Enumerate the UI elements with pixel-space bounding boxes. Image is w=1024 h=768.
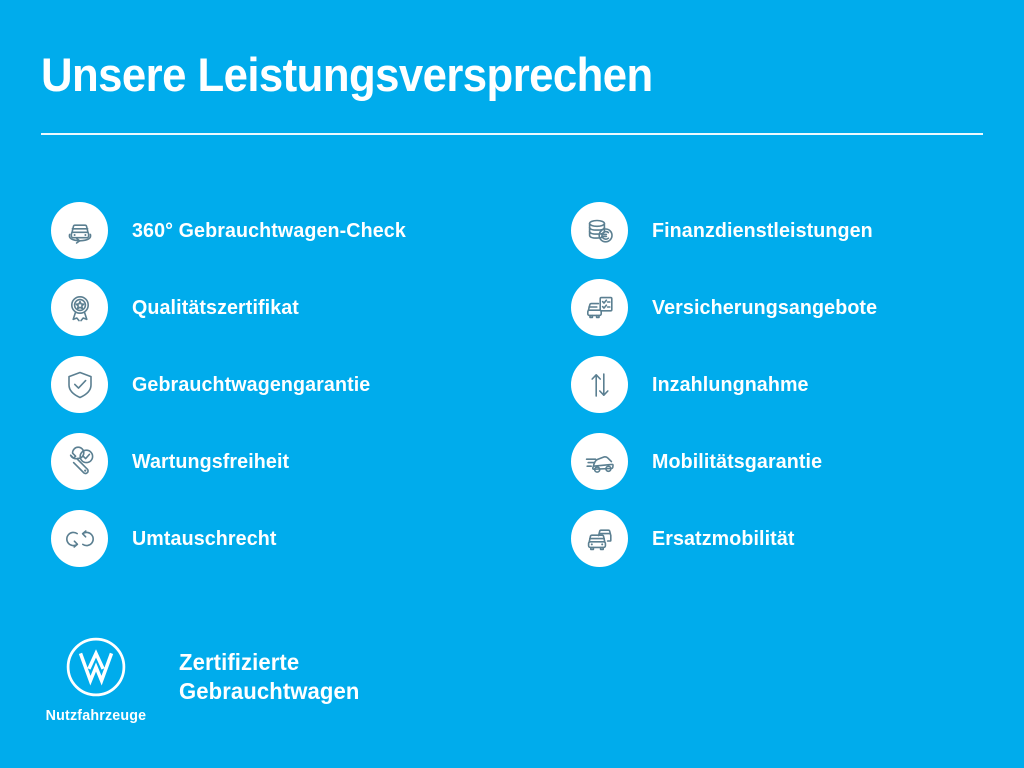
benefit-item-umtauschrecht[interactable]: Umtauschrecht (51, 510, 491, 567)
shield-check-icon (51, 356, 108, 413)
brand-headline: Zertifizierte Gebrauchtwagen (179, 648, 359, 707)
up-down-arrows-icon (571, 356, 628, 413)
benefit-label: Mobilitätsgarantie (652, 450, 822, 474)
slide-canvas: Unsere Leistungsversprechen 360° Gebrauc… (0, 0, 1024, 768)
logo-block: Nutzfahrzeuge (41, 636, 151, 724)
title-divider (41, 133, 983, 135)
two-cars-icon (571, 510, 628, 567)
coins-euro-icon (571, 202, 628, 259)
benefits-column-left: 360° Gebrauchtwagen-Check Qualitätszerti… (51, 202, 491, 587)
benefit-label: Versicherungsangebote (652, 296, 877, 320)
benefits-column-right: Finanzdienstleistungen Versicherungsange… (571, 202, 1011, 587)
brand-lockup: Nutzfahrzeuge Zertifizierte Gebrauchtwag… (41, 636, 367, 724)
benefit-label: Wartungsfreiheit (132, 450, 289, 474)
vw-roundel-logo (65, 636, 127, 698)
brand-headline-line2: Gebrauchtwagen (179, 677, 359, 706)
benefit-label: Umtauschrecht (132, 527, 277, 551)
benefit-label: Qualitätszertifikat (132, 296, 299, 320)
benefit-label: Inzahlungnahme (652, 373, 809, 397)
page-title: Unsere Leistungsversprechen (41, 50, 653, 99)
wrench-check-icon (51, 433, 108, 490)
benefit-item-gebrauchtwagengarantie[interactable]: Gebrauchtwagengarantie (51, 356, 491, 413)
benefit-item-qualitaetszertifikat[interactable]: Qualitätszertifikat (51, 279, 491, 336)
brand-headline-line1: Zertifizierte (179, 648, 359, 677)
benefit-item-mobilitaetsgarantie[interactable]: Mobilitätsgarantie (571, 433, 1011, 490)
car-360-check-icon (51, 202, 108, 259)
exchange-arrows-icon (51, 510, 108, 567)
benefit-item-versicherungsangebote[interactable]: Versicherungsangebote (571, 279, 1011, 336)
logo-subbrand-label: Nutzfahrzeuge (46, 707, 147, 724)
benefit-item-finanzdienstleistungen[interactable]: Finanzdienstleistungen (571, 202, 1011, 259)
benefit-label: Finanzdienstleistungen (652, 219, 873, 243)
moving-car-icon (571, 433, 628, 490)
benefit-item-360-check[interactable]: 360° Gebrauchtwagen-Check (51, 202, 491, 259)
benefit-label: 360° Gebrauchtwagen-Check (132, 219, 406, 243)
award-rosette-icon (51, 279, 108, 336)
benefit-item-wartungsfreiheit[interactable]: Wartungsfreiheit (51, 433, 491, 490)
benefit-label: Gebrauchtwagengarantie (132, 373, 370, 397)
benefit-item-inzahlungnahme[interactable]: Inzahlungnahme (571, 356, 1011, 413)
benefit-label: Ersatzmobilität (652, 527, 795, 551)
benefit-item-ersatzmobilitaet[interactable]: Ersatzmobilität (571, 510, 1011, 567)
car-checklist-icon (571, 279, 628, 336)
